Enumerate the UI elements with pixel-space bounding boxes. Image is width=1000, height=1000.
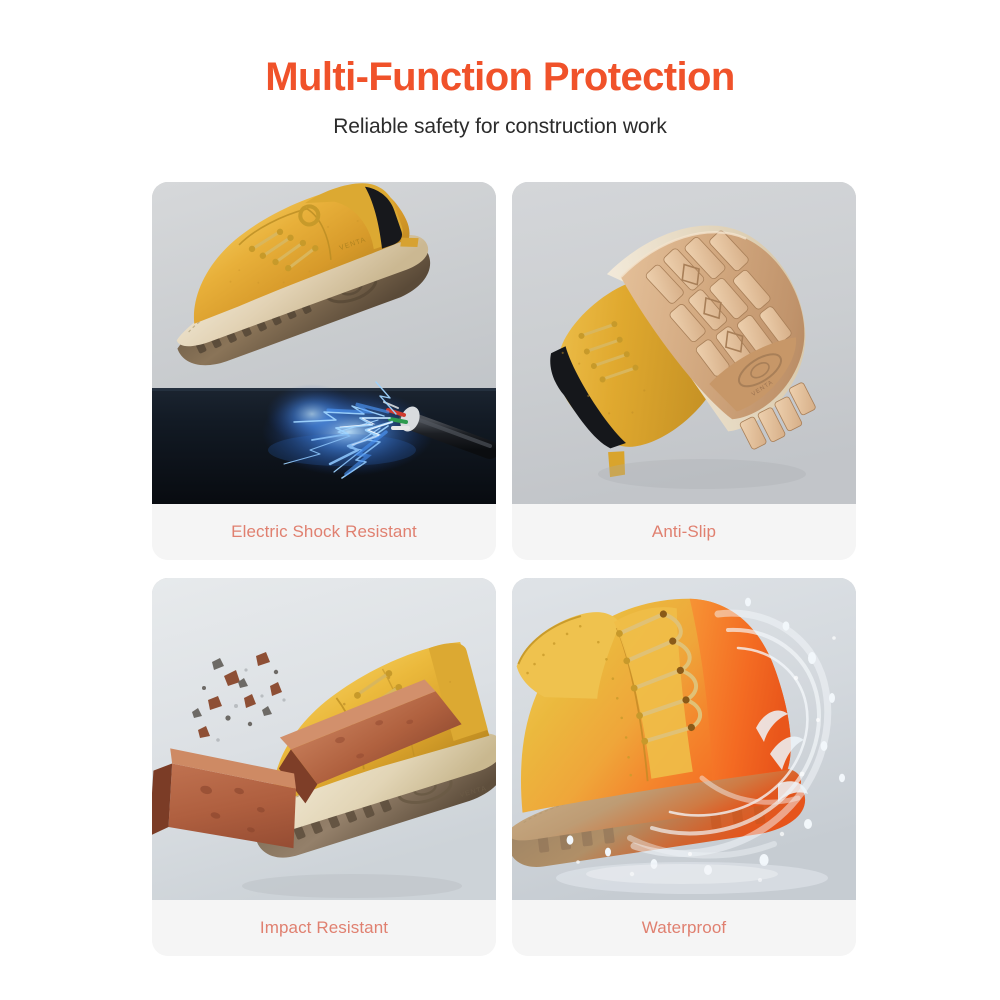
anti-slip-photo: VENTA	[512, 182, 856, 504]
waterproof-illustration	[512, 578, 856, 900]
feature-card-electric-shock-resistant[interactable]: VENTA	[152, 182, 496, 560]
impact-resistant-photo: VENTA	[152, 578, 496, 900]
electric-shock-illustration: VENTA	[152, 182, 496, 504]
card-caption-waterproof: Waterproof	[512, 900, 856, 956]
feature-card-grid: VENTA	[152, 182, 856, 956]
card-caption-anti-slip: Anti-Slip	[512, 504, 856, 560]
card-caption-impact-resistant: Impact Resistant	[152, 900, 496, 956]
waterproof-photo	[512, 578, 856, 900]
electric-shock-photo: VENTA	[152, 182, 496, 504]
header: Multi-Function Protection Reliable safet…	[0, 0, 1000, 139]
card-caption-electric-shock-resistant: Electric Shock Resistant	[152, 504, 496, 560]
page-subtitle: Reliable safety for construction work	[0, 115, 1000, 139]
impact-resistant-illustration: VENTA	[152, 578, 496, 900]
feature-card-impact-resistant[interactable]: VENTA	[152, 578, 496, 956]
page-title: Multi-Function Protection	[0, 56, 1000, 98]
feature-card-waterproof[interactable]: Waterproof	[512, 578, 856, 956]
product-infographic: Multi-Function Protection Reliable safet…	[0, 0, 1000, 1000]
feature-card-anti-slip[interactable]: VENTA Anti-Slip	[512, 182, 856, 560]
anti-slip-illustration: VENTA	[512, 182, 856, 504]
